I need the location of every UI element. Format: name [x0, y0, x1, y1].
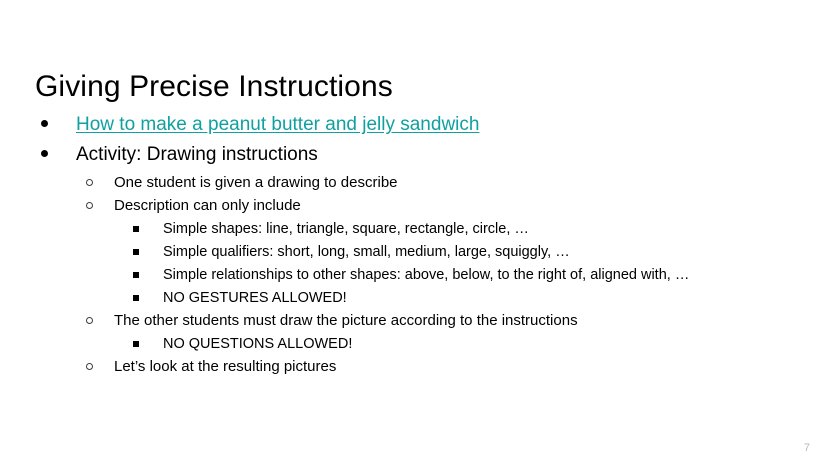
list-item-label: Activity: Drawing instructions [76, 142, 828, 167]
list-item: Let’s look at the resulting pictures [0, 356, 828, 379]
list-item-label: Let’s look at the resulting pictures [114, 356, 828, 378]
page-number: 7 [804, 442, 810, 454]
list-item: Activity: Drawing instructions [0, 142, 828, 172]
list-item-label: Simple shapes: line, triangle, square, r… [163, 218, 828, 240]
page-title: Giving Precise Instructions [35, 70, 393, 103]
list-item: Simple relationships to other shapes: ab… [0, 264, 828, 287]
list-item: Simple shapes: line, triangle, square, r… [0, 218, 828, 241]
filled-circle-bullet-icon [41, 150, 51, 157]
filled-square-bullet-icon [133, 295, 141, 303]
slide-canvas: Giving Precise Instructions How to make … [0, 0, 828, 466]
list-item: NO GESTURES ALLOWED! [0, 287, 828, 310]
list-item: Description can only include [0, 195, 828, 218]
bullet-list: How to make a peanut butter and jelly sa… [0, 112, 828, 379]
hollow-circle-bullet-icon [86, 179, 95, 188]
list-item-label: The other students must draw the picture… [114, 310, 828, 332]
hollow-circle-bullet-icon [86, 202, 95, 211]
filled-circle-bullet-icon [41, 120, 51, 127]
list-item: Simple qualifiers: short, long, small, m… [0, 241, 828, 264]
list-item-label: One student is given a drawing to descri… [114, 172, 828, 194]
list-item: One student is given a drawing to descri… [0, 172, 828, 195]
list-item: The other students must draw the picture… [0, 310, 828, 333]
filled-square-bullet-icon [133, 249, 141, 257]
list-item-label: Simple relationships to other shapes: ab… [163, 264, 828, 286]
list-item-label: Simple qualifiers: short, long, small, m… [163, 241, 828, 263]
list-item-label: NO QUESTIONS ALLOWED! [163, 333, 828, 355]
filled-square-bullet-icon [133, 341, 141, 349]
list-item-link[interactable]: How to make a peanut butter and jelly sa… [76, 112, 828, 137]
list-item-label: Description can only include [114, 195, 828, 217]
list-item: NO QUESTIONS ALLOWED! [0, 333, 828, 356]
list-item[interactable]: How to make a peanut butter and jelly sa… [0, 112, 828, 142]
list-item-label: NO GESTURES ALLOWED! [163, 287, 828, 309]
hollow-circle-bullet-icon [86, 363, 95, 372]
filled-square-bullet-icon [133, 272, 141, 280]
filled-square-bullet-icon [133, 226, 141, 234]
hollow-circle-bullet-icon [86, 317, 95, 326]
